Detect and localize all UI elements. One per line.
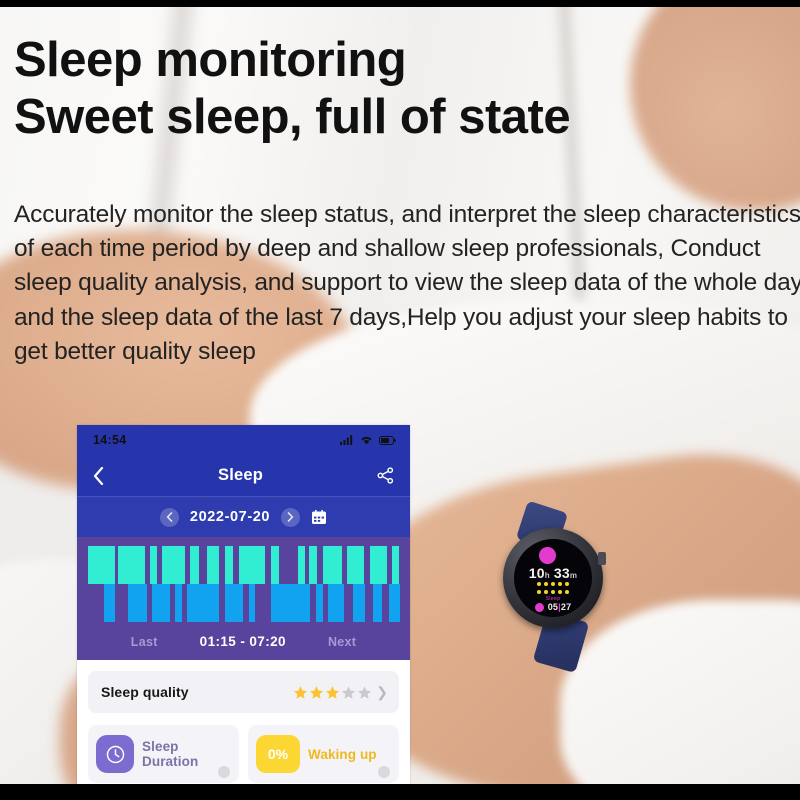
- chart-bar: [190, 546, 199, 584]
- chart-time-range: 01:15 - 07:20: [200, 634, 286, 649]
- dot-icon: [551, 590, 555, 594]
- chart-next-label[interactable]: Next: [328, 635, 356, 649]
- prev-day-button[interactable]: [160, 508, 179, 527]
- chart-bar: [353, 584, 365, 622]
- watch-hours-unit: h: [545, 571, 550, 580]
- chart-bar: [150, 546, 157, 584]
- signal-icon: [340, 435, 354, 445]
- watch-dots-row-2: [514, 590, 592, 594]
- chart-bar: [239, 546, 266, 584]
- chart-bar: [207, 546, 219, 584]
- sleep-quality-card[interactable]: Sleep quality ❯: [88, 671, 399, 713]
- bottom-black-bar: [0, 784, 800, 800]
- chevron-right-icon[interactable]: ❯: [376, 685, 388, 699]
- chart-plot-area: [88, 546, 399, 622]
- chart-bar: [187, 584, 219, 622]
- dot-icon: [537, 590, 541, 594]
- chart-bar: [298, 546, 305, 584]
- chart-bar: [162, 546, 185, 584]
- dot-icon: [565, 582, 569, 586]
- chart-bar: [225, 584, 243, 622]
- dot-icon: [544, 590, 548, 594]
- chart-series-light-sleep: [88, 546, 399, 584]
- headline-line-2: Sweet sleep, full of state: [14, 93, 570, 143]
- waking-up-title: Waking up: [308, 747, 377, 762]
- crescent-moon-icon: [537, 545, 558, 566]
- star-icon[interactable]: [357, 685, 372, 700]
- chart-bar: [152, 584, 170, 622]
- chart-bar: [392, 546, 399, 584]
- chart-bar: [323, 546, 342, 584]
- watch-crown-button[interactable]: [598, 552, 606, 565]
- watch-minutes: 33: [554, 565, 570, 581]
- share-icon[interactable]: [377, 467, 394, 484]
- battery-icon: [379, 436, 396, 445]
- headline-line-1: Sleep monitoring: [14, 33, 406, 87]
- dot-icon: [551, 582, 555, 586]
- stat-card-row: Sleep Duration 0% Waking up: [88, 725, 399, 783]
- phone-nav-bar: Sleep: [77, 455, 410, 497]
- chart-bar: [128, 584, 147, 622]
- waking-up-percent-badge: 0%: [256, 735, 300, 773]
- smartwatch: 10h 33m Sleep: [497, 520, 615, 655]
- star-rating[interactable]: [293, 685, 372, 700]
- chevron-right-icon: [287, 512, 294, 522]
- watch-minutes-unit: m: [570, 571, 577, 580]
- watch-bottom-value: 05|27: [548, 602, 572, 612]
- clock-icon: [96, 735, 134, 773]
- info-dot-icon: [218, 766, 230, 778]
- promo-banner: Sleep monitoring Sweet sleep, full of st…: [0, 0, 800, 800]
- top-black-bar: [0, 0, 800, 7]
- waking-up-card[interactable]: 0% Waking up: [248, 725, 399, 783]
- dot-icon: [544, 582, 548, 586]
- watch-bottom-left: 05: [548, 602, 558, 612]
- chart-bar: [316, 584, 323, 622]
- phone-status-bar: 14:54: [77, 425, 410, 455]
- date-selector: 2022-07-20: [77, 497, 410, 537]
- chevron-left-icon: [166, 512, 173, 522]
- sleep-duration-card[interactable]: Sleep Duration: [88, 725, 239, 783]
- watch-sleep-duration: 10h 33m: [514, 566, 592, 580]
- star-icon[interactable]: [293, 685, 308, 700]
- chart-bar: [328, 584, 344, 622]
- chart-footer: Last 01:15 - 07:20 Next: [77, 634, 410, 649]
- status-time: 14:54: [93, 433, 126, 447]
- chart-bar: [175, 584, 182, 622]
- chart-bar: [225, 546, 233, 584]
- chart-bar: [271, 584, 311, 622]
- chart-bar: [373, 584, 382, 622]
- chart-bar: [104, 584, 115, 622]
- watch-dots-row-1: [514, 582, 592, 586]
- watch-screen[interactable]: 10h 33m Sleep: [514, 539, 592, 617]
- watch-hours: 10: [529, 565, 545, 581]
- watch-bottom-right: 27: [561, 602, 571, 612]
- page-title: Sleep monitoring Sweet sleep, full of st…: [14, 36, 570, 143]
- nav-title: Sleep: [218, 466, 263, 485]
- sleep-stage-chart[interactable]: Last 01:15 - 07:20 Next: [77, 537, 410, 660]
- star-icon[interactable]: [309, 685, 324, 700]
- chart-bar: [249, 584, 254, 622]
- selected-date[interactable]: 2022-07-20: [190, 509, 270, 525]
- calendar-icon[interactable]: [311, 509, 327, 525]
- dot-icon: [565, 590, 569, 594]
- dot-icon: [537, 582, 541, 586]
- chart-prev-label[interactable]: Last: [131, 635, 158, 649]
- watch-bottom-row: 05|27: [514, 602, 592, 612]
- chart-series-deep-sleep: [88, 584, 399, 622]
- chart-bar: [309, 546, 317, 584]
- star-icon[interactable]: [341, 685, 356, 700]
- chart-bar: [271, 546, 279, 584]
- description-paragraph: Accurately monitor the sleep status, and…: [14, 198, 800, 369]
- next-day-button[interactable]: [281, 508, 300, 527]
- chart-bar: [370, 546, 388, 584]
- dot-icon: [558, 590, 562, 594]
- crescent-moon-icon: [534, 601, 545, 612]
- dot-icon: [558, 582, 562, 586]
- sleep-duration-title: Sleep Duration: [142, 739, 231, 769]
- status-icon-group: [340, 435, 396, 445]
- chart-bar: [347, 546, 365, 584]
- sleep-quality-label: Sleep quality: [101, 684, 189, 700]
- chart-bar: [118, 546, 145, 584]
- phone-content-sheet: Sleep quality ❯ Sleep Duration: [77, 660, 410, 785]
- info-dot-icon: [378, 766, 390, 778]
- chart-bar: [88, 546, 115, 584]
- star-icon[interactable]: [325, 685, 340, 700]
- phone-app-screenshot: 14:54: [77, 425, 410, 785]
- chevron-left-icon[interactable]: [93, 467, 104, 485]
- watch-case: 10h 33m Sleep: [503, 528, 603, 628]
- wifi-icon: [360, 435, 373, 445]
- chart-bar: [389, 584, 400, 622]
